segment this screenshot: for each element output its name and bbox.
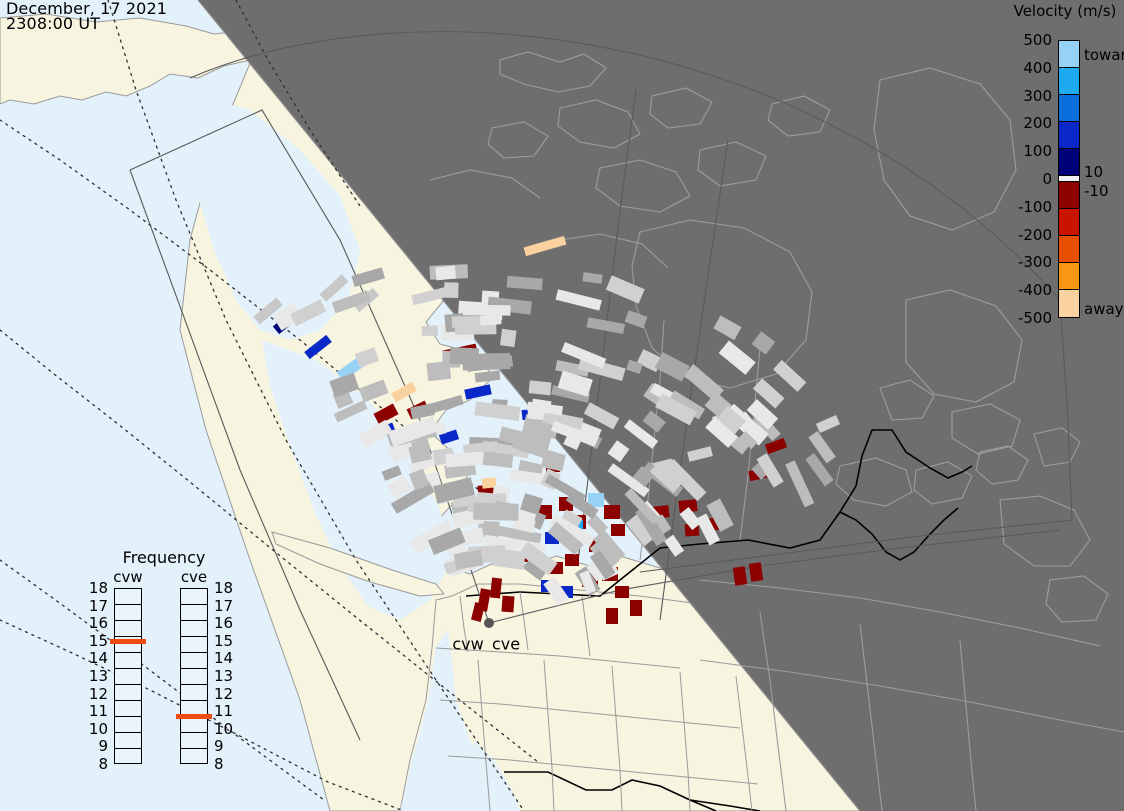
colorbar-tick--400: -400	[1006, 281, 1052, 299]
frequency-bar-cell	[115, 669, 141, 685]
frequency-tick-cvw-18: 18	[86, 579, 108, 597]
colorbar-segment-150	[1059, 122, 1079, 149]
frequency-column-header-cvw: cvw	[108, 568, 148, 586]
frequency-bar-cell	[181, 733, 207, 749]
colorbar-segment-50	[1059, 149, 1079, 176]
frequency-tick-cve-12: 12	[214, 685, 236, 703]
frequency-tick-cve-17: 17	[214, 597, 236, 615]
frequency-bar-cell	[181, 605, 207, 621]
frequency-bar-cell	[181, 669, 207, 685]
frequency-tick-cve-10: 10	[214, 720, 236, 738]
frequency-tick-cve-13: 13	[214, 667, 236, 685]
frequency-tick-cvw-13: 13	[86, 667, 108, 685]
frequency-tick-cvw-14: 14	[86, 649, 108, 667]
frequency-bar-cell	[115, 733, 141, 749]
colorbar-tick-300: 300	[1006, 87, 1052, 105]
frequency-bar-cell	[115, 621, 141, 637]
frequency-tick-cve-9: 9	[214, 737, 236, 755]
colorbar-negative-threshold-label: -10	[1084, 182, 1109, 200]
ground-scatter-cell	[450, 347, 480, 365]
colorbar-segment--450	[1059, 290, 1079, 317]
radar-site-label-cve: cve	[492, 635, 520, 654]
frequency-bar-cell	[181, 685, 207, 701]
frequency-tick-cve-8: 8	[214, 755, 236, 773]
frequency-tick-cvw-15: 15	[86, 632, 108, 650]
frequency-legend-title: Frequency	[84, 548, 244, 567]
frequency-tick-cvw-8: 8	[86, 755, 108, 773]
velocity-colorbar: Velocity (m/s) 5004003002001000-100-200-…	[1006, 2, 1124, 332]
radar-site-marker	[484, 618, 494, 628]
frequency-bar-cell	[181, 749, 207, 765]
frequency-bar-cell	[115, 653, 141, 669]
superdarn-velocity-map: December, 17 2021 2308:00 UT Velocity (m…	[0, 0, 1124, 811]
frequency-tick-cvw-16: 16	[86, 614, 108, 632]
velocity-cell	[490, 578, 502, 599]
velocity-cell	[749, 562, 763, 581]
radar-site-label-cvw: cvw	[452, 635, 483, 654]
frequency-tick-cve-15: 15	[214, 632, 236, 650]
frequency-bar-cell	[181, 589, 207, 605]
ground-scatter-cell	[463, 305, 510, 316]
frequency-tick-cve-11: 11	[214, 702, 236, 720]
ground-scatter-cell	[524, 418, 544, 434]
colorbar-tick-0: 0	[1006, 170, 1052, 188]
frequency-bar-cell	[115, 701, 141, 717]
frequency-bar-cell	[181, 653, 207, 669]
velocity-cell	[630, 600, 642, 616]
colorbar-title: Velocity (m/s)	[1006, 2, 1124, 20]
colorbar-tick--100: -100	[1006, 198, 1052, 216]
colorbar-tick--300: -300	[1006, 253, 1052, 271]
ground-scatter-cell	[500, 329, 517, 347]
colorbar-tick--500: -500	[1006, 309, 1052, 327]
frequency-tick-cvw-11: 11	[86, 702, 108, 720]
colorbar-tick--200: -200	[1006, 226, 1052, 244]
frequency-bar-cell	[115, 717, 141, 733]
colorbar-tick-400: 400	[1006, 59, 1052, 77]
frequency-legend: Frequency cvw18171615141312111098cve1817…	[84, 548, 244, 793]
frequency-column-header-cve: cve	[174, 568, 214, 586]
frequency-marker-cvw	[110, 639, 146, 644]
velocity-cell	[501, 596, 514, 613]
colorbar-toward-label: toward	[1084, 46, 1124, 64]
ground-scatter-cell	[480, 314, 502, 325]
ground-scatter-cell	[444, 282, 459, 298]
colorbar-segment--150	[1059, 209, 1079, 236]
colorbar-segment--350	[1059, 263, 1079, 290]
time-label: 2308:00 UT	[6, 16, 100, 31]
frequency-bar-cell	[181, 637, 207, 653]
frequency-tick-cvw-17: 17	[86, 597, 108, 615]
velocity-cell	[606, 608, 618, 624]
frequency-bar-cell	[115, 605, 141, 621]
colorbar-tick-500: 500	[1006, 31, 1052, 49]
velocity-cell	[604, 505, 620, 519]
frequency-bar-cve	[180, 588, 208, 764]
colorbar-away-label: away	[1084, 300, 1124, 318]
colorbar-segment-250	[1059, 95, 1079, 122]
frequency-tick-cvw-12: 12	[86, 685, 108, 703]
frequency-tick-cvw-9: 9	[86, 737, 108, 755]
colorbar-segment--50	[1059, 182, 1079, 209]
ground-scatter-cell	[421, 325, 438, 336]
frequency-bar-cell	[115, 749, 141, 765]
colorbar-segment--250	[1059, 236, 1079, 263]
frequency-tick-cve-18: 18	[214, 579, 236, 597]
frequency-bar-cvw	[114, 588, 142, 764]
velocity-cell	[611, 524, 625, 536]
frequency-tick-cvw-10: 10	[86, 720, 108, 738]
velocity-cell	[615, 586, 629, 598]
frequency-marker-cve	[176, 714, 212, 719]
frequency-tick-cve-14: 14	[214, 649, 236, 667]
velocity-cell	[733, 566, 747, 585]
colorbar-segment-450	[1059, 41, 1079, 68]
frequency-bar-cell	[181, 621, 207, 637]
colorbar-positive-threshold-label: 10	[1084, 163, 1103, 181]
frequency-bar-cell	[115, 589, 141, 605]
colorbar-gradient	[1058, 40, 1080, 318]
colorbar-segment-350	[1059, 68, 1079, 95]
ground-scatter-cell	[435, 266, 456, 281]
colorbar-tick-200: 200	[1006, 114, 1052, 132]
frequency-bar-cell	[115, 685, 141, 701]
colorbar-tick-100: 100	[1006, 142, 1052, 160]
velocity-cell	[565, 554, 579, 566]
frequency-tick-cve-16: 16	[214, 614, 236, 632]
ground-scatter-cell	[529, 380, 552, 395]
